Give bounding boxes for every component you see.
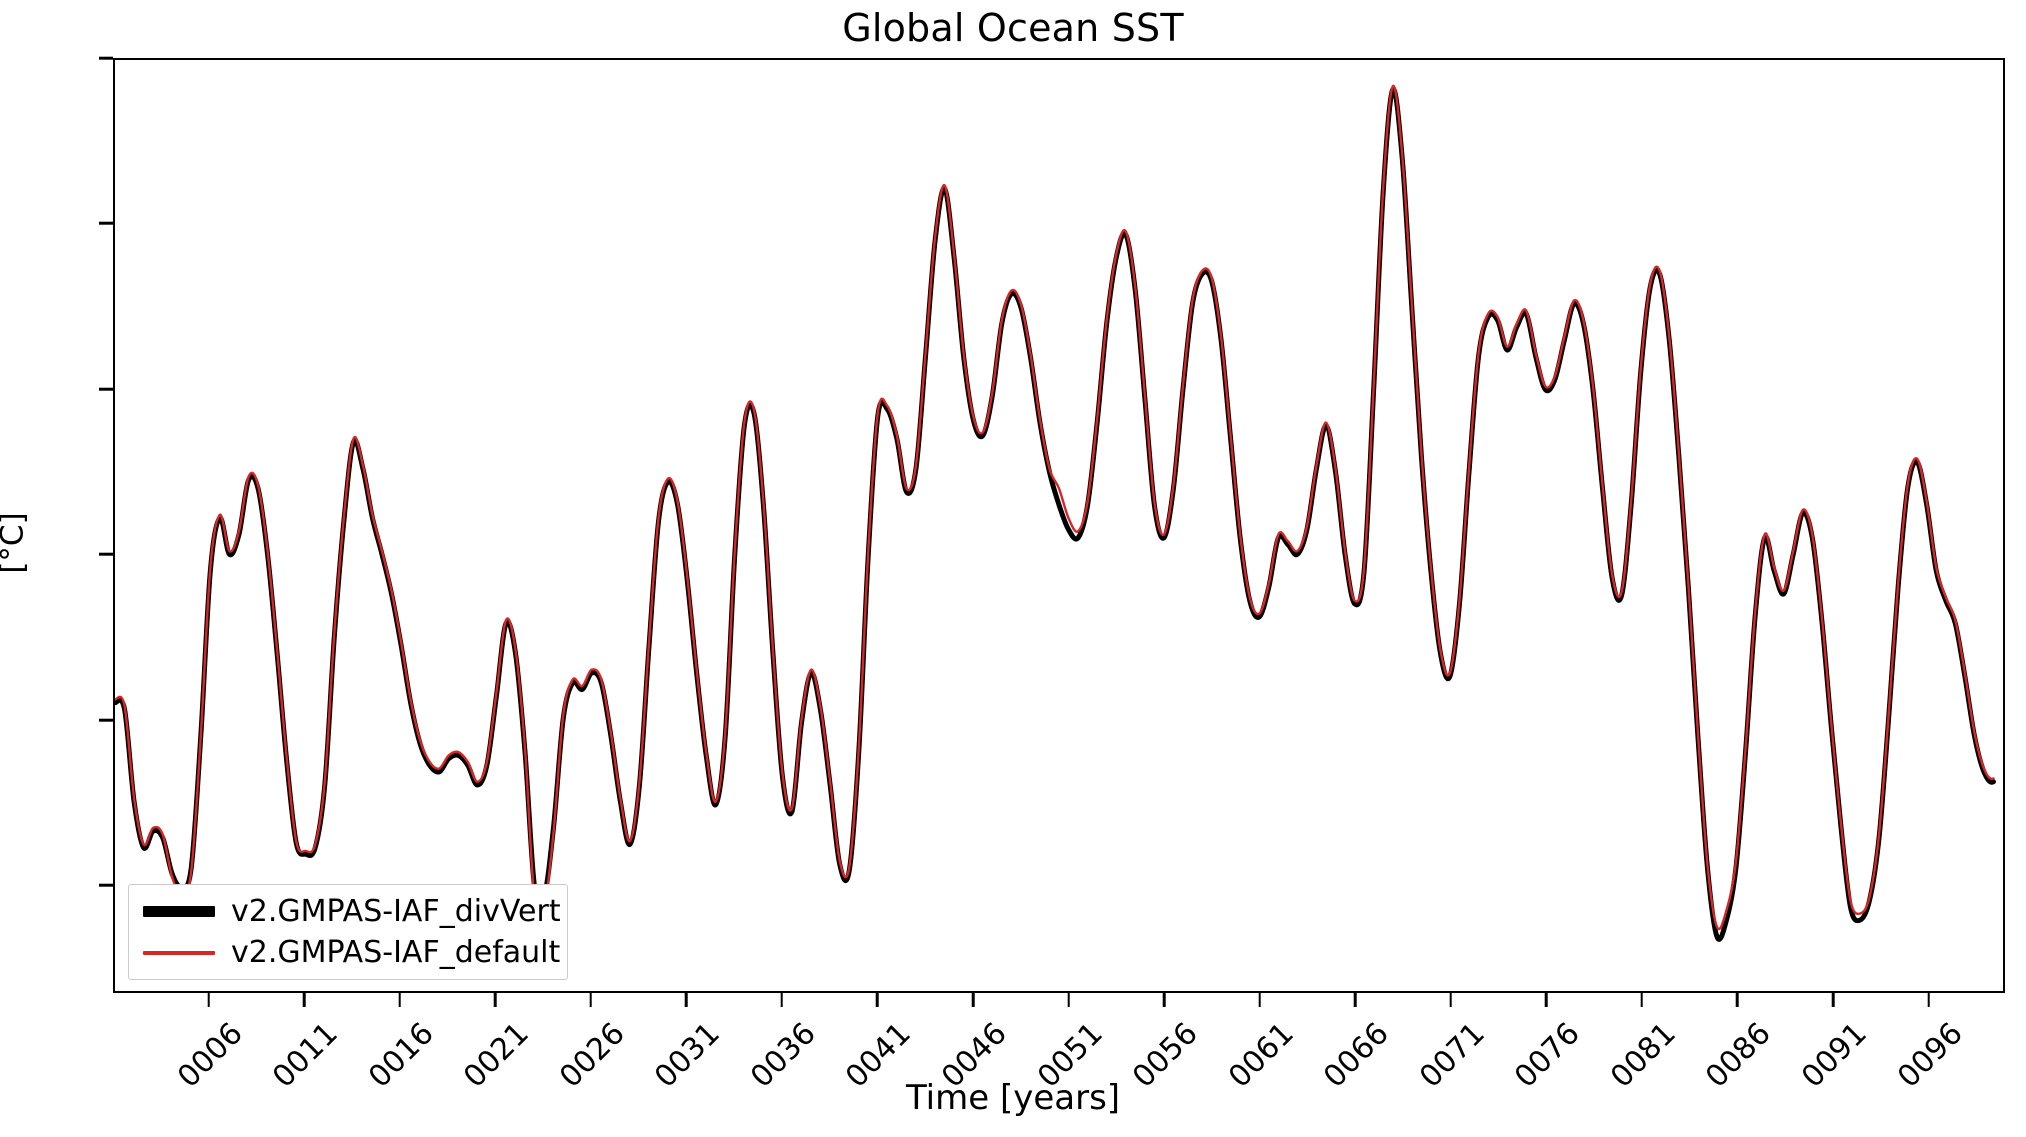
legend-item-1[interactable]: v2.GMPAS-IAF_default [141, 932, 553, 973]
x-tick-mark [876, 993, 879, 1007]
x-axis-label: Time [years] [0, 1078, 2026, 1118]
chart-figure: Global Ocean SST [°C] 18.118.218.318.418… [0, 0, 2026, 1137]
legend-line-0 [143, 906, 215, 917]
x-tick-mark [1354, 993, 1357, 1007]
y-tick-mark [99, 222, 113, 225]
x-tick-mark [972, 993, 975, 1007]
x-tick-mark [781, 993, 784, 1007]
x-tick-mark [1832, 993, 1835, 1007]
x-tick-mark [207, 993, 210, 1007]
legend-item-0[interactable]: v2.GMPAS-IAF_divVert [141, 891, 553, 932]
x-tick-mark [1736, 993, 1739, 1007]
plot-lines [115, 60, 2003, 991]
legend-label-default: v2.GMPAS-IAF_default [217, 935, 560, 970]
legend-label-divvert: v2.GMPAS-IAF_divVert [217, 894, 561, 929]
x-tick-mark [589, 993, 592, 1007]
series-line-divvert [115, 89, 1993, 939]
y-tick-mark [99, 57, 113, 60]
series-line-default [115, 86, 1993, 929]
y-tick-mark [99, 388, 113, 391]
x-tick-mark [1927, 993, 1930, 1007]
y-axis-label: [°C] [0, 512, 31, 573]
x-tick-mark [494, 993, 497, 1007]
legend-line-1 [143, 951, 215, 955]
x-tick-mark [1545, 993, 1548, 1007]
legend-swatch-default [141, 951, 217, 955]
y-tick-mark [99, 553, 113, 556]
y-tick-mark [99, 719, 113, 722]
x-tick-mark [1067, 993, 1070, 1007]
x-tick-mark [303, 993, 306, 1007]
legend-swatch-divvert [141, 906, 217, 917]
x-tick-mark [1163, 993, 1166, 1007]
x-tick-mark [1258, 993, 1261, 1007]
y-tick-mark [99, 884, 113, 887]
x-tick-mark [398, 993, 401, 1007]
plot-area [113, 58, 2005, 993]
chart-legend: v2.GMPAS-IAF_divVert v2.GMPAS-IAF_defaul… [128, 884, 568, 980]
chart-title: Global Ocean SST [0, 6, 2026, 50]
x-tick-mark [685, 993, 688, 1007]
x-tick-mark [1449, 993, 1452, 1007]
x-tick-mark [1641, 993, 1644, 1007]
